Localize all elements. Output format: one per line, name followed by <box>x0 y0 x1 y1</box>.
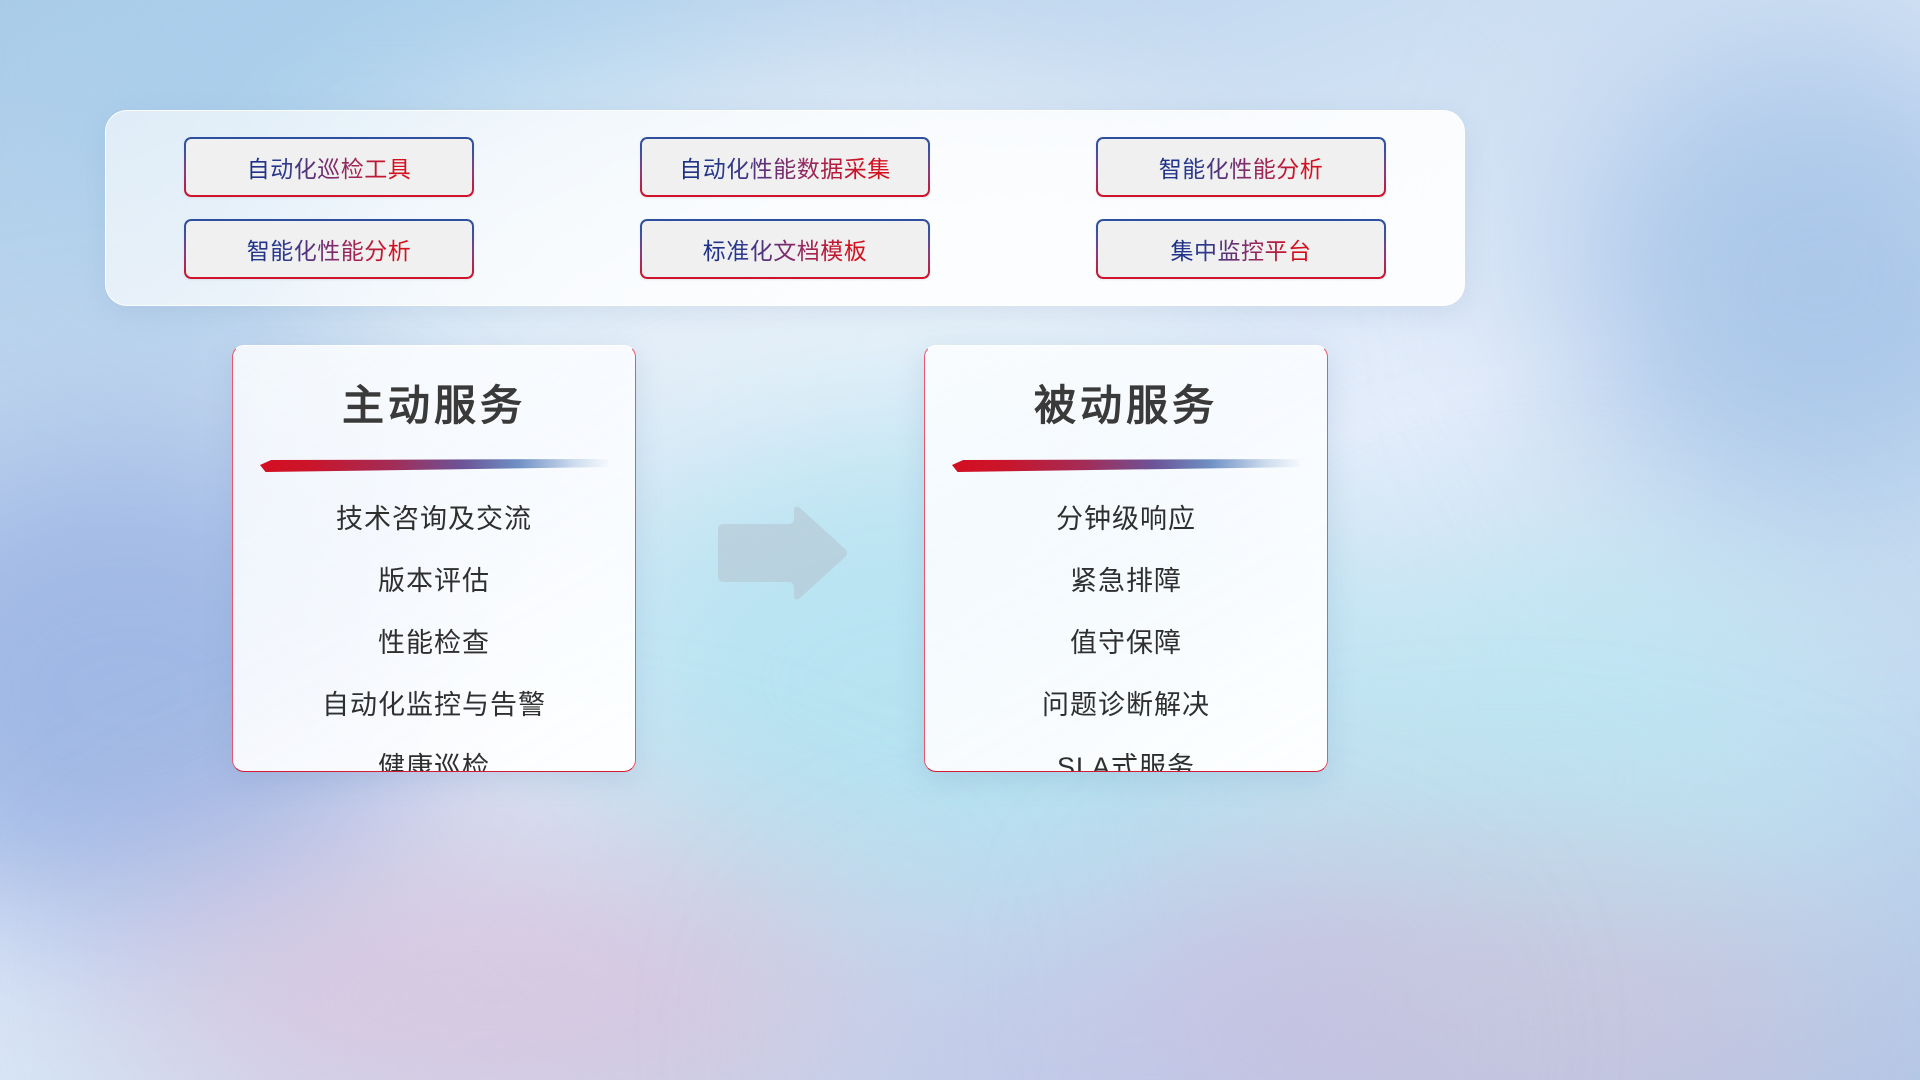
right-arrow-icon <box>714 504 850 602</box>
background-blob <box>1560 40 1920 520</box>
capability-chip-intelligent-performance-analysis[interactable]: 智能化性能分析 <box>1096 137 1386 197</box>
capability-chip-label: 自动化巡检工具 <box>247 150 412 184</box>
service-item: 版本评估 <box>233 568 635 595</box>
service-item: 健康巡检 <box>233 754 635 772</box>
capability-chip-automated-inspection-tool[interactable]: 自动化巡检工具 <box>184 137 474 197</box>
card-divider <box>952 459 1300 472</box>
background-blob <box>1280 560 1840 990</box>
service-card-reactive: 被动服务 分钟级响应 紧急排障 值守保障 问题诊断解决 SLA式服务 <box>924 345 1328 772</box>
service-item: 自动化监控与告警 <box>233 692 635 719</box>
capability-chip-label: 标准化文档模板 <box>703 232 868 266</box>
service-item: 值守保障 <box>925 630 1327 657</box>
service-item: 问题诊断解决 <box>925 692 1327 719</box>
service-item: 紧急排障 <box>925 568 1327 595</box>
capability-chip-intelligent-performance-analysis-2[interactable]: 智能化性能分析 <box>184 219 474 279</box>
service-item: 技术咨询及交流 <box>233 506 635 533</box>
capability-row-2: 智能化性能分析 标准化文档模板 集中监控平台 <box>184 219 1386 279</box>
card-title: 被动服务 <box>925 372 1327 433</box>
capability-chip-label: 自动化性能数据采集 <box>679 150 891 184</box>
service-item: 分钟级响应 <box>925 506 1327 533</box>
service-item-list: 分钟级响应 紧急排障 值守保障 问题诊断解决 SLA式服务 <box>925 506 1327 772</box>
card-title: 主动服务 <box>233 372 635 433</box>
background-blob <box>120 830 880 1080</box>
capability-chip-centralized-monitoring-platform[interactable]: 集中监控平台 <box>1096 219 1386 279</box>
service-card-proactive: 主动服务 技术咨询及交流 版本评估 性能检查 自动化监控与告警 健康巡检 <box>232 345 636 772</box>
background-blob <box>820 900 1440 1080</box>
slide-canvas: 自动化巡检工具 自动化性能数据采集 智能化性能分析 智能化性能分析 标准化文档模… <box>0 0 1920 1080</box>
capability-chip-automated-performance-data-collection[interactable]: 自动化性能数据采集 <box>640 137 930 197</box>
card-divider <box>260 459 608 472</box>
service-item-list: 技术咨询及交流 版本评估 性能检查 自动化监控与告警 健康巡检 <box>233 506 635 772</box>
capability-chip-label: 智能化性能分析 <box>1159 150 1324 184</box>
service-item: SLA式服务 <box>925 754 1327 772</box>
capability-row-1: 自动化巡检工具 自动化性能数据采集 智能化性能分析 <box>184 137 1386 197</box>
capability-panel: 自动化巡检工具 自动化性能数据采集 智能化性能分析 智能化性能分析 标准化文档模… <box>105 110 1465 306</box>
background-blob <box>1150 840 1850 1080</box>
capability-chip-standardized-document-template[interactable]: 标准化文档模板 <box>640 219 930 279</box>
capability-chip-label: 智能化性能分析 <box>247 232 412 266</box>
capability-chip-label: 集中监控平台 <box>1171 232 1312 266</box>
service-item: 性能检查 <box>233 630 635 657</box>
